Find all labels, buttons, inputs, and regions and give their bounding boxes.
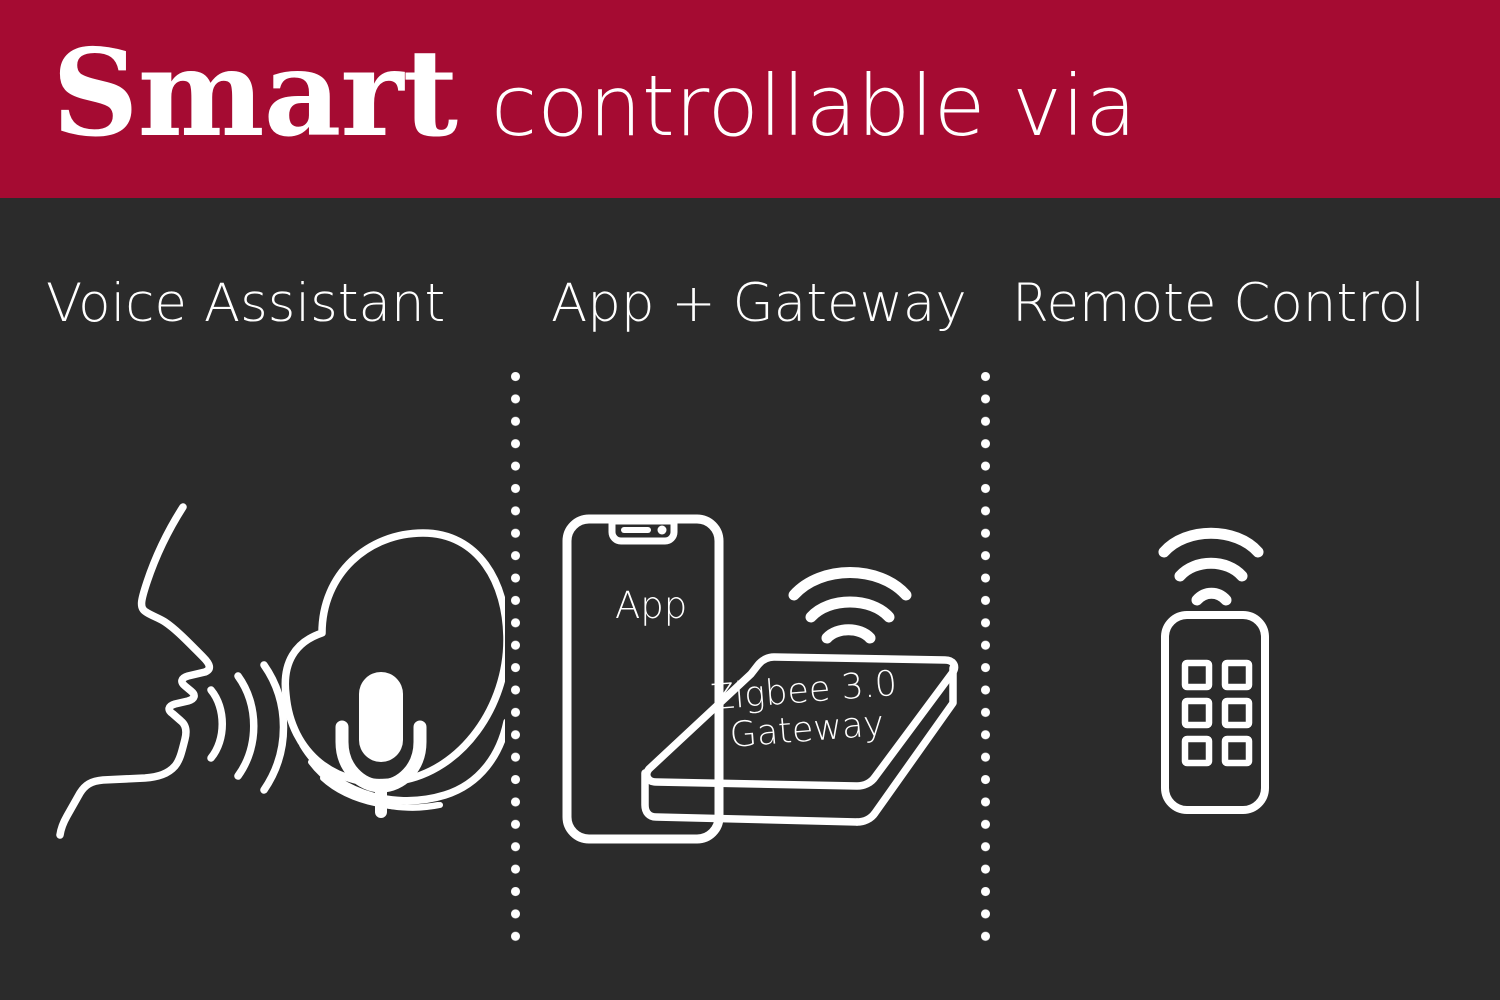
earpiece-slot-icon bbox=[621, 527, 651, 533]
banner-title-light: controllable via bbox=[491, 57, 1137, 155]
phone-app-label: App bbox=[615, 585, 687, 626]
header-banner: Smartcontrollable via bbox=[0, 0, 1500, 198]
wifi-icon bbox=[794, 573, 906, 639]
face-profile-icon bbox=[60, 507, 209, 835]
banner-title-strong: Smart bbox=[52, 23, 457, 164]
infographic-canvas: Smartcontrollable via Voice Assistant Ap… bbox=[0, 0, 1500, 1000]
button-grid-icon bbox=[1185, 663, 1249, 763]
column-heading-remote-control: Remote Control bbox=[1012, 277, 1425, 330]
smart-speaker-icon bbox=[285, 533, 505, 808]
camera-dot-icon bbox=[658, 526, 667, 535]
voice-assistant-illustration bbox=[55, 490, 505, 864]
sound-wave-icon bbox=[211, 665, 284, 790]
gateway-label: Zigbee 3.0 Gateway bbox=[709, 665, 901, 758]
column-heading-voice-assistant: Voice Assistant bbox=[46, 277, 445, 330]
column-heading-app-gateway: App + Gateway bbox=[551, 277, 967, 330]
remote-control-illustration bbox=[1125, 515, 1325, 849]
column-divider-left bbox=[511, 372, 520, 954]
wifi-icon bbox=[1164, 533, 1258, 600]
banner-title: Smartcontrollable via bbox=[52, 34, 1137, 154]
